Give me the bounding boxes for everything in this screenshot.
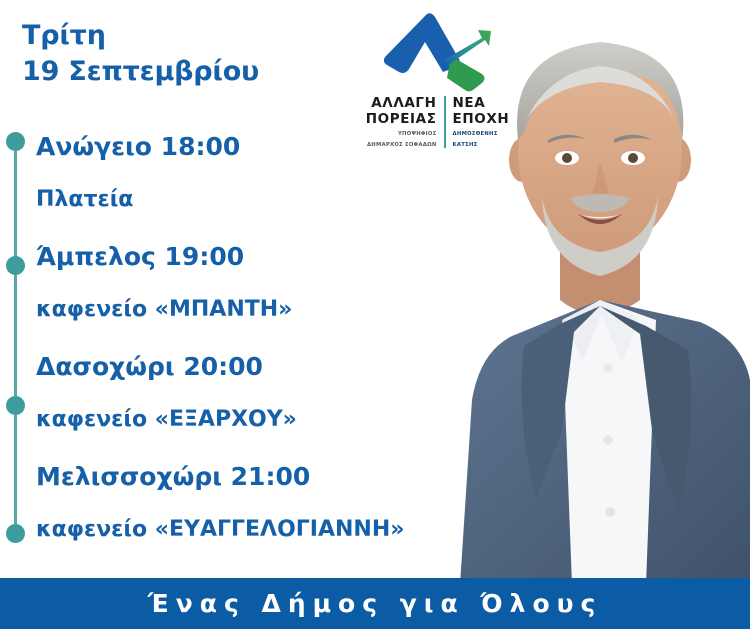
event-date-heading: Τρίτη 19 Σεπτεμβρίου — [22, 18, 362, 90]
event-day-month: 19 Σεπτεμβρίου — [22, 54, 362, 90]
stop-place-time-2: Άμπελος 19:00 — [36, 230, 470, 284]
stop-venue-4: καφενείο «ΕΥΑΓΓΕΛΟΓΙΑΝΝΗ» — [36, 504, 470, 556]
timeline-dot-stop-4 — [6, 524, 25, 543]
stop-venue-2: καφενείο «ΜΠΑΝΤΗ» — [36, 284, 470, 336]
slogan-banner: Ένας Δήμος για Όλους — [0, 578, 750, 629]
stop-place-time-3: Δασοχώρι 20:00 — [36, 340, 470, 394]
timeline-dot-stop-1 — [6, 132, 25, 151]
timeline-entries: Ανώγειο 18:00 Πλατεία Άμπελος 19:00 καφε… — [36, 120, 470, 560]
stop-venue-3: καφενείο «ΕΞΑΡΧΟΥ» — [36, 394, 470, 446]
timeline-rail — [14, 138, 17, 536]
timeline-entry-3: Δασοχώρι 20:00 καφενείο «ΕΞΑΡΧΟΥ» — [36, 340, 470, 446]
timeline-dot-stop-3 — [6, 396, 25, 415]
logo-subtext-ypopsifios: ΥΠΟΨΗΦΙΟΣ — [366, 131, 437, 138]
stop-place-time-4: Μελισσοχώρι 21:00 — [36, 450, 470, 504]
timeline-dot-stop-2 — [6, 256, 25, 275]
event-timeline: Ανώγειο 18:00 Πλατεία Άμπελος 19:00 καφε… — [0, 120, 470, 560]
candidate-portrait — [450, 0, 750, 585]
logo-text-poreias: ΠΟΡΕΙΑΣ — [366, 112, 437, 128]
timeline-entry-2: Άμπελος 19:00 καφενείο «ΜΠΑΝΤΗ» — [36, 230, 470, 336]
campaign-poster: Τρίτη 19 Σεπτεμβρίου Ανώγειο 18:00 Πλατε… — [0, 0, 750, 629]
logo-wordmark-left: ΑΛΛΑΓΗ ΠΟΡΕΙΑΣ ΥΠΟΨΗΦΙΟΣ ΔΗΜΑΡΧΟΣ ΣΟΦΑΔΩ… — [366, 96, 444, 148]
logo-subtext-dimarchos-sofadon: ΔΗΜΑΡΧΟΣ ΣΟΦΑΔΩΝ — [366, 142, 437, 149]
logo-text-allagi: ΑΛΛΑΓΗ — [366, 96, 437, 112]
slogan-text: Ένας Δήμος για Όλους — [148, 589, 603, 618]
stop-venue-1: Πλατεία — [36, 174, 470, 226]
event-weekday: Τρίτη — [22, 18, 362, 54]
timeline-entry-4: Μελισσοχώρι 21:00 καφενείο «ΕΥΑΓΓΕΛΟΓΙΑΝ… — [36, 450, 470, 556]
